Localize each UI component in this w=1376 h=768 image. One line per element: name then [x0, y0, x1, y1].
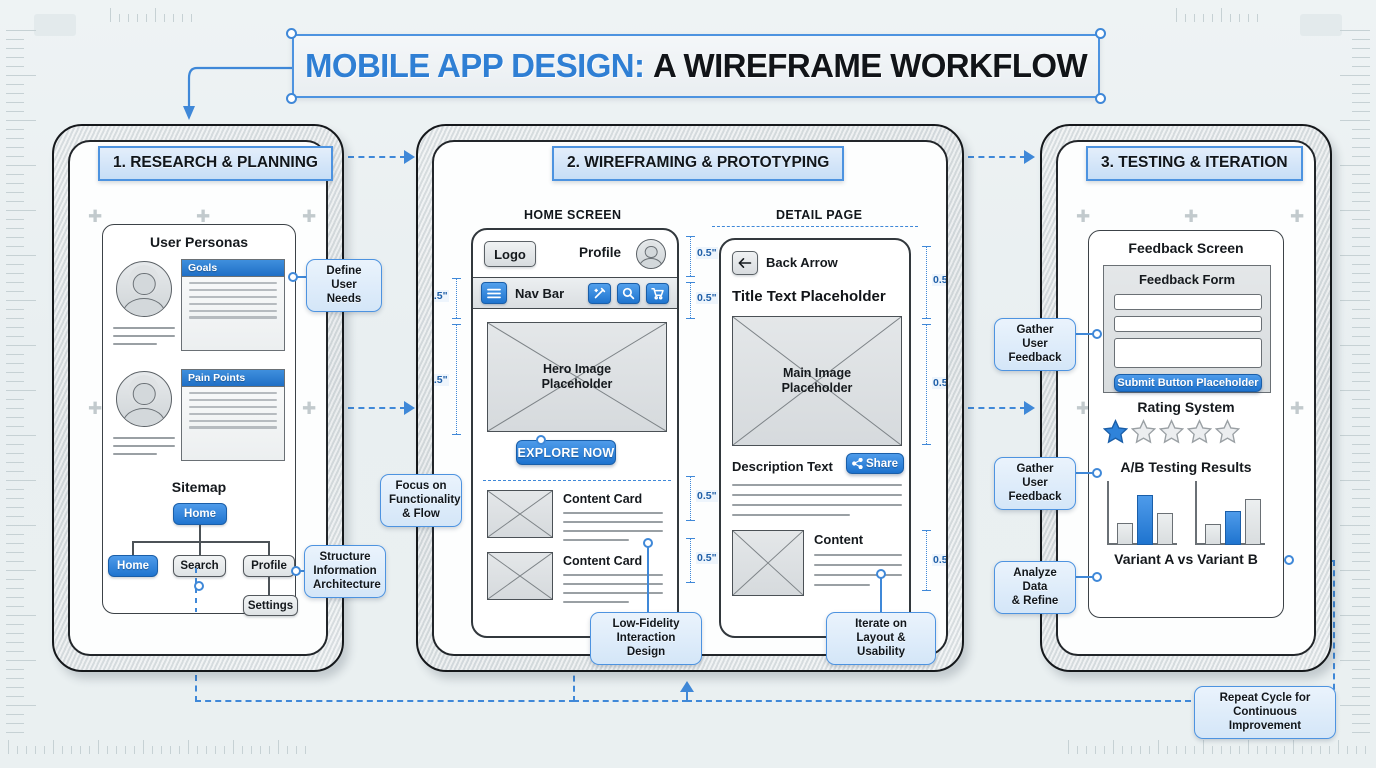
feedback-screen-title: Feedback Screen: [1089, 240, 1283, 256]
content-text-line: [814, 554, 902, 556]
star-icon-empty[interactable]: [1187, 419, 1212, 444]
crop-mark: ✚: [302, 208, 316, 225]
dimension-label: 0.5": [932, 274, 948, 286]
nav-bar: Nav Bar: [473, 277, 677, 309]
star-icon-empty[interactable]: [1131, 419, 1156, 444]
sitemap-connector: [132, 541, 134, 555]
dimension-line: [926, 324, 927, 444]
callout-anchor-define-needs[interactable]: [288, 272, 298, 282]
callout-anchor-structure-ia[interactable]: [291, 566, 301, 576]
callout-gather-feedback-1[interactable]: Gather User Feedback: [994, 318, 1076, 371]
flow-arrow-p2-p3-top: [1024, 150, 1035, 164]
main-image-label: Main Image Placeholder: [782, 366, 853, 396]
goals-label: Goals: [182, 260, 284, 277]
profile-label: Profile: [579, 245, 621, 260]
flow-anchor-p3[interactable]: [1284, 555, 1294, 565]
detail-text-line: [732, 504, 902, 506]
back-arrow-label: Back Arrow: [766, 255, 838, 270]
goals-lines: [182, 277, 284, 324]
ab-chart: [1107, 481, 1267, 545]
cart-icon[interactable]: [646, 283, 669, 304]
flow-p2-p3-mid: [968, 407, 1026, 409]
panel-research-planning: ✚ ✚ ✚ ✚ ✚ User Personas Goals Pain: [52, 124, 344, 672]
content-text-line: [814, 584, 870, 586]
ab-testing-title: A/B Testing Results: [1089, 459, 1283, 475]
share-icon: [852, 458, 863, 469]
dimension-label: 0.5": [696, 247, 718, 259]
logo-button[interactable]: Logo: [484, 241, 536, 267]
feedback-screen-card: Feedback Screen Feedback Form Submit But…: [1088, 230, 1284, 618]
dimension-line: [690, 236, 691, 276]
crop-mark: ✚: [88, 400, 102, 417]
callout-analyze-refine[interactable]: Analyze Data & Refine: [994, 561, 1076, 614]
hero-image-label: Hero Image Placeholder: [542, 362, 613, 392]
persona-text-line: [113, 327, 175, 329]
bar-b3: [1245, 499, 1261, 545]
dimension-line: [456, 324, 457, 434]
content-card-title: Content Card: [563, 554, 642, 568]
dimension-line: [690, 538, 691, 582]
page-title-box: MOBILE APP DESIGN: A WIREFRAME WORKFLOW: [292, 34, 1100, 98]
dimension-cap: [452, 278, 461, 279]
crop-mark: ✚: [1076, 208, 1090, 225]
goals-block: Goals: [181, 259, 285, 351]
content-card-thumb: [487, 552, 553, 600]
panel3-title: 3. TESTING & ITERATION: [1086, 146, 1303, 181]
placeholder-cross: [488, 491, 552, 537]
page-title-primary: MOBILE APP DESIGN:: [305, 47, 644, 85]
sitemap-connector: [268, 541, 270, 555]
crop-mark: ✚: [302, 400, 316, 417]
description-text-label: Description Text: [732, 459, 833, 474]
avatar: [116, 371, 172, 427]
dimension-cap: [686, 582, 695, 583]
sitemap-node-search[interactable]: Search: [173, 555, 226, 577]
flow-p1-p2-top: [348, 156, 406, 158]
ruler-bottom-right: [1068, 740, 1368, 762]
dimension-label: 0.5": [432, 374, 449, 386]
dimension-cap: [686, 236, 695, 237]
callout-anchor-explore[interactable]: [536, 435, 546, 445]
callout-low-fidelity[interactable]: Low-Fidelity Interaction Design: [590, 612, 702, 665]
sitemap-node-settings[interactable]: Settings: [243, 595, 298, 616]
callout-repeat-cycle[interactable]: Repeat Cycle for Continuous Improvement: [1194, 686, 1336, 739]
panel2-inner: HOME SCREEN DETAIL PAGE Logo Profile Nav…: [432, 140, 948, 656]
feedback-input-2[interactable]: [1114, 316, 1262, 332]
dimension-line: [690, 476, 691, 520]
crop-mark: ✚: [1290, 208, 1304, 225]
detail-text-line: [732, 514, 850, 516]
bar-b2: [1225, 511, 1241, 545]
page-title-secondary: A WIREFRAME WORKFLOW: [653, 47, 1087, 85]
feedback-form-title: Feedback Form: [1104, 272, 1270, 287]
user-personas-title: User Personas: [103, 234, 295, 250]
crop-mark: ✚: [1290, 400, 1304, 417]
callout-focus-functionality[interactable]: Focus on Functionality & Flow: [380, 474, 462, 527]
content-title: Content: [814, 532, 863, 547]
card-text-line: [563, 539, 629, 541]
dimension-cap: [686, 282, 695, 283]
detail-text-line: [732, 494, 902, 496]
flow-p1-p2-mid: [348, 407, 406, 409]
search-icon[interactable]: [617, 283, 640, 304]
panel1-inner: ✚ ✚ ✚ ✚ ✚ User Personas Goals Pain: [68, 140, 328, 656]
explore-now-button[interactable]: EXPLORE NOW: [516, 440, 616, 465]
submit-button[interactable]: Submit Button Placeholder: [1114, 374, 1262, 392]
sitemap-node-home[interactable]: Home: [108, 555, 158, 577]
dimension-line: [926, 246, 927, 318]
dimension-label: 0.5": [696, 552, 718, 564]
dimension-label: 0.5": [932, 554, 948, 566]
content-thumb: [732, 530, 804, 596]
resize-handle-bl[interactable]: [286, 93, 297, 104]
dimension-cap: [686, 318, 695, 319]
chart-axis-a: [1107, 481, 1109, 545]
flow-loop-bottom-a: [195, 700, 575, 702]
card-text-line: [563, 521, 663, 523]
sitemap-drop-line: [195, 568, 197, 612]
crop-mark: ✚: [1184, 208, 1198, 225]
flow-loop-p3-up: [1333, 560, 1335, 700]
content-text-line: [814, 574, 902, 576]
callout-define-user-needs[interactable]: Define User Needs: [306, 259, 382, 312]
callout-gather-feedback-2[interactable]: Gather User Feedback: [994, 457, 1076, 510]
dimension-cap: [922, 318, 931, 319]
ruler-bottom-left: [8, 740, 308, 762]
user-personas-card: User Personas Goals Pain Points: [102, 224, 296, 614]
sitemap-node-profile[interactable]: Profile: [243, 555, 295, 577]
chart-axis-b: [1195, 481, 1197, 545]
card-text-line: [563, 601, 629, 603]
callout-structure-ia[interactable]: Structure Information Architecture: [304, 545, 386, 598]
back-arrow-button[interactable]: [732, 251, 758, 275]
main-image-placeholder: Main Image Placeholder: [732, 316, 902, 446]
bar-a1: [1117, 523, 1133, 545]
hamburger-menu-icon[interactable]: [481, 282, 507, 304]
callout-anchor-analyze[interactable]: [1092, 572, 1102, 582]
callout-anchor-feedback-1[interactable]: [1092, 329, 1102, 339]
panel-testing-iteration: ✚ ✚ ✚ ✚ ✚ Feedback Screen Feedback Form …: [1040, 124, 1332, 672]
callout-anchor-low-fidelity[interactable]: [643, 538, 653, 548]
dimension-cap: [922, 590, 931, 591]
flow-p2-p3-top: [968, 156, 1026, 158]
paper-smudge: [1300, 14, 1342, 36]
resize-handle-tl[interactable]: [286, 28, 297, 39]
callout-iterate-layout[interactable]: Iterate on Layout & Usability: [826, 612, 936, 665]
crop-mark: ✚: [196, 208, 210, 225]
callout-anchor-iterate[interactable]: [876, 569, 886, 579]
resize-handle-br[interactable]: [1095, 93, 1106, 104]
callout-anchor-feedback-2[interactable]: [1092, 468, 1102, 478]
rating-system-title: Rating System: [1089, 399, 1283, 415]
title-connector: [175, 58, 305, 128]
rating-stars[interactable]: [1103, 419, 1240, 444]
bar-a2: [1137, 495, 1153, 545]
dimension-cap: [686, 538, 695, 539]
flow-arrow-p2-p3-mid: [1024, 401, 1035, 415]
dimension-cap: [922, 530, 931, 531]
flow-arrow-p1-p2-top: [404, 150, 415, 164]
content-card-thumb: [487, 490, 553, 538]
dimension-label: 0.5": [932, 377, 948, 389]
bar-b1: [1205, 524, 1221, 545]
avatar: [116, 261, 172, 317]
placeholder-cross: [733, 531, 803, 595]
dimension-cap: [922, 444, 931, 445]
sitemap-connector: [268, 577, 270, 595]
dimension-cap: [922, 246, 931, 247]
wand-icon[interactable]: [588, 283, 611, 304]
ruler-left: [6, 30, 52, 740]
star-icon-empty[interactable]: [1215, 419, 1240, 444]
persona-text-line: [113, 445, 175, 447]
content-card-title: Content Card: [563, 492, 642, 506]
dimension-label: 0.5": [432, 290, 449, 302]
content-text-line: [814, 564, 902, 566]
dimension-cap: [452, 434, 461, 435]
sitemap-connector: [199, 541, 201, 555]
star-icon-empty[interactable]: [1159, 419, 1184, 444]
back-arrow-icon: [738, 257, 752, 269]
hero-image-placeholder: Hero Image Placeholder: [487, 322, 667, 432]
dimension-cap: [922, 324, 931, 325]
resize-handle-tr[interactable]: [1095, 28, 1106, 39]
persona-text-line: [113, 335, 175, 337]
profile-avatar[interactable]: [636, 239, 666, 269]
share-label: Share: [866, 458, 898, 470]
feedback-input-1[interactable]: [1114, 294, 1262, 310]
panel2-title: 2. WIREFRAMING & PROTOTYPING: [552, 146, 844, 181]
dimension-cap: [686, 476, 695, 477]
crop-mark: ✚: [88, 208, 102, 225]
share-button[interactable]: Share: [846, 453, 904, 474]
pain-points-label: Pain Points: [182, 370, 284, 387]
detail-title: Title Text Placeholder: [732, 288, 886, 305]
flow-arrow-p1-p2-mid: [404, 401, 415, 415]
paper-smudge: [34, 14, 76, 36]
dimension-line: [456, 278, 457, 318]
sitemap-title: Sitemap: [103, 479, 295, 495]
pain-points-block: Pain Points: [181, 369, 285, 461]
callout-line: [880, 576, 882, 614]
persona-text-line: [113, 437, 175, 439]
sitemap-node-root[interactable]: Home: [173, 503, 227, 525]
callout-line: [647, 545, 649, 613]
dimension-line: [926, 530, 927, 590]
detail-page-label: DETAIL PAGE: [776, 208, 862, 222]
card-section-divider: [483, 480, 671, 481]
dimension-cap: [452, 318, 461, 319]
feedback-textarea[interactable]: [1114, 338, 1262, 368]
card-text-line: [563, 512, 663, 514]
flow-arrow-up-p2b: [680, 681, 694, 692]
star-icon-filled[interactable]: [1103, 419, 1128, 444]
card-text-line: [563, 530, 663, 532]
placeholder-cross: [488, 553, 552, 599]
dimension-label: 0.5": [696, 292, 718, 304]
detail-top-rule: [712, 226, 918, 227]
ruler-top-right: [1176, 8, 1266, 28]
pain-points-lines: [182, 387, 284, 434]
flow-loop-bottom-c: [686, 700, 1191, 702]
persona-text-line: [113, 343, 157, 345]
page-title: MOBILE APP DESIGN: A WIREFRAME WORKFLOW: [292, 34, 1100, 98]
dimension-cap: [686, 520, 695, 521]
feedback-form: Feedback Form Submit Button Placeholder: [1103, 265, 1271, 393]
flow-loop-bottom-b: [573, 700, 688, 702]
panel1-title: 1. RESEARCH & PLANNING: [98, 146, 333, 181]
persona-text-line: [113, 453, 157, 455]
dimension-cap: [686, 276, 695, 277]
dimension-line: [690, 282, 691, 318]
ruler-top-left: [110, 8, 200, 28]
bar-a3: [1157, 513, 1173, 545]
dimension-label: 0.5": [696, 490, 718, 502]
sitemap-connector: [199, 525, 201, 541]
nav-bar-label: Nav Bar: [515, 286, 564, 301]
detail-text-line: [732, 484, 902, 486]
home-screen-label: HOME SCREEN: [524, 208, 621, 222]
dimension-cap: [452, 324, 461, 325]
ab-caption: Variant A vs Variant B: [1089, 551, 1283, 567]
